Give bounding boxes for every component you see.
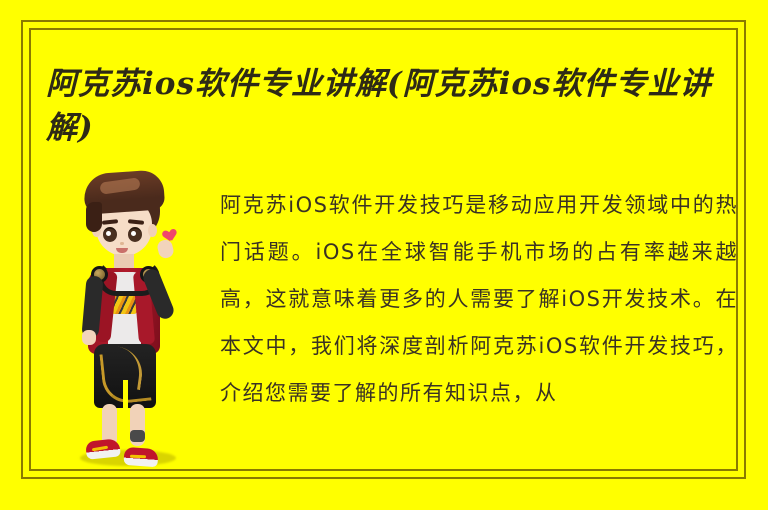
- cartoon-boy-illustration: [58, 172, 208, 472]
- article-body: 阿克苏iOS软件开发技巧是移动应用开发领域中的热门话题。iOS在全球智能手机市场…: [220, 182, 738, 417]
- eye-right: [128, 227, 142, 242]
- hand-left: [82, 330, 96, 345]
- ear-right: [148, 224, 157, 237]
- sock-right: [130, 430, 145, 442]
- article-card: 阿克苏ios软件专业讲解(阿克苏ios软件专业讲解): [0, 0, 768, 510]
- nose: [120, 242, 124, 245]
- page-title: 阿克苏ios软件专业讲解(阿克苏ios软件专业讲解): [46, 62, 736, 150]
- eye-left: [103, 227, 117, 242]
- sneaker-stripe-right: [130, 455, 146, 459]
- hair-sideburn: [86, 202, 102, 232]
- heart-icon: [163, 229, 177, 243]
- shorts-leg-gap: [123, 380, 128, 408]
